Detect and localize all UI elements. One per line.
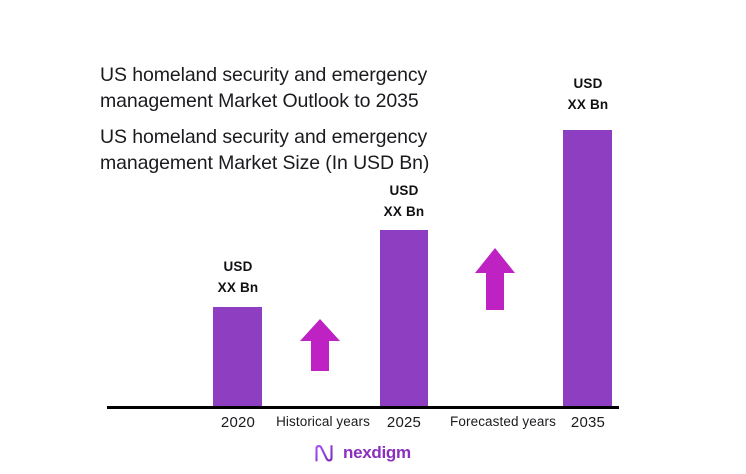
bar-value-label-2035: USD XX Bn (542, 73, 634, 115)
nexdigm-wordmark: nexdigm (343, 443, 411, 463)
bar-value-line2: XX Bn (359, 201, 449, 222)
chart-canvas: US homeland security and emergency manag… (0, 0, 746, 474)
bar-value-line1: USD (193, 256, 283, 277)
plot-area: USD XX Bn USD XX Bn USD XX Bn 2020 Histo… (0, 0, 746, 474)
bar-value-line1: USD (542, 73, 634, 94)
axis-label-2035: 2035 (548, 414, 628, 431)
bar-value-line1: USD (359, 180, 449, 201)
growth-up-arrow-icon-2 (474, 247, 516, 311)
bar-value-label-2020: USD XX Bn (193, 256, 283, 298)
bar-2020 (213, 307, 262, 407)
x-axis-line (107, 406, 619, 409)
bar-value-line2: XX Bn (193, 277, 283, 298)
wavy-n-icon (312, 441, 336, 465)
bar-value-line2: XX Bn (542, 94, 634, 115)
bar-2025 (380, 230, 428, 407)
bar-2035 (563, 130, 612, 407)
growth-up-arrow-icon-1 (299, 318, 341, 372)
bar-value-label-2025: USD XX Bn (359, 180, 449, 222)
axis-label-2025: 2025 (364, 414, 444, 431)
nexdigm-logo: nexdigm (312, 441, 411, 465)
